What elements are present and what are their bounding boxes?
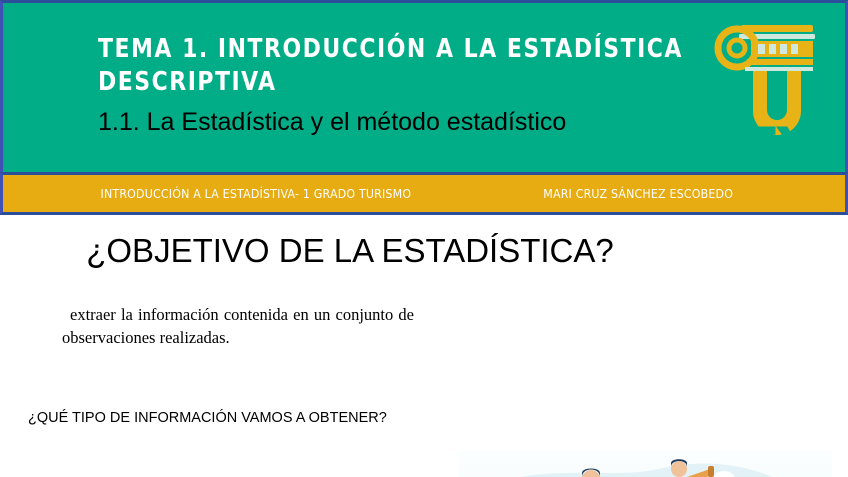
band-course-label: INTRODUCCIÓN A LA ESTADÍSTIVA- 1 GRADO T… <box>101 187 412 201</box>
title-line-2: DESCRIPTIVA <box>98 66 671 99</box>
slide-body: ¿OBJETIVO DE LA ESTADÍSTICA? extraer la … <box>0 215 848 477</box>
title-line-1: TEMA 1. INTRODUCCIÓN A LA ESTADÍSTICA <box>98 33 671 66</box>
header-banner: TEMA 1. INTRODUCCIÓN A LA ESTADÍSTICA DE… <box>0 0 848 172</box>
objective-heading: ¿OBJETIVO DE LA ESTADÍSTICA? <box>0 232 700 270</box>
followup-question: ¿QUÉ TIPO DE INFORMACIÓN VAMOS A OBTENER… <box>28 410 387 426</box>
objective-paragraph: extraer la información contenida en un c… <box>62 303 414 349</box>
course-info-band: INTRODUCCIÓN A LA ESTADÍSTIVA- 1 GRADO T… <box>0 172 848 215</box>
title-block: TEMA 1. INTRODUCCIÓN A LA ESTADÍSTICA DE… <box>98 33 708 138</box>
uex-logo <box>711 15 821 165</box>
page-subtitle: 1.1. La Estadística y el método estadíst… <box>98 106 708 138</box>
slide: TEMA 1. INTRODUCCIÓN A LA ESTADÍSTICA DE… <box>0 0 848 477</box>
data-analytics-illustration <box>458 451 832 477</box>
band-teacher-label: MARI CRUZ SÁNCHEZ ESCOBEDO <box>543 187 733 201</box>
